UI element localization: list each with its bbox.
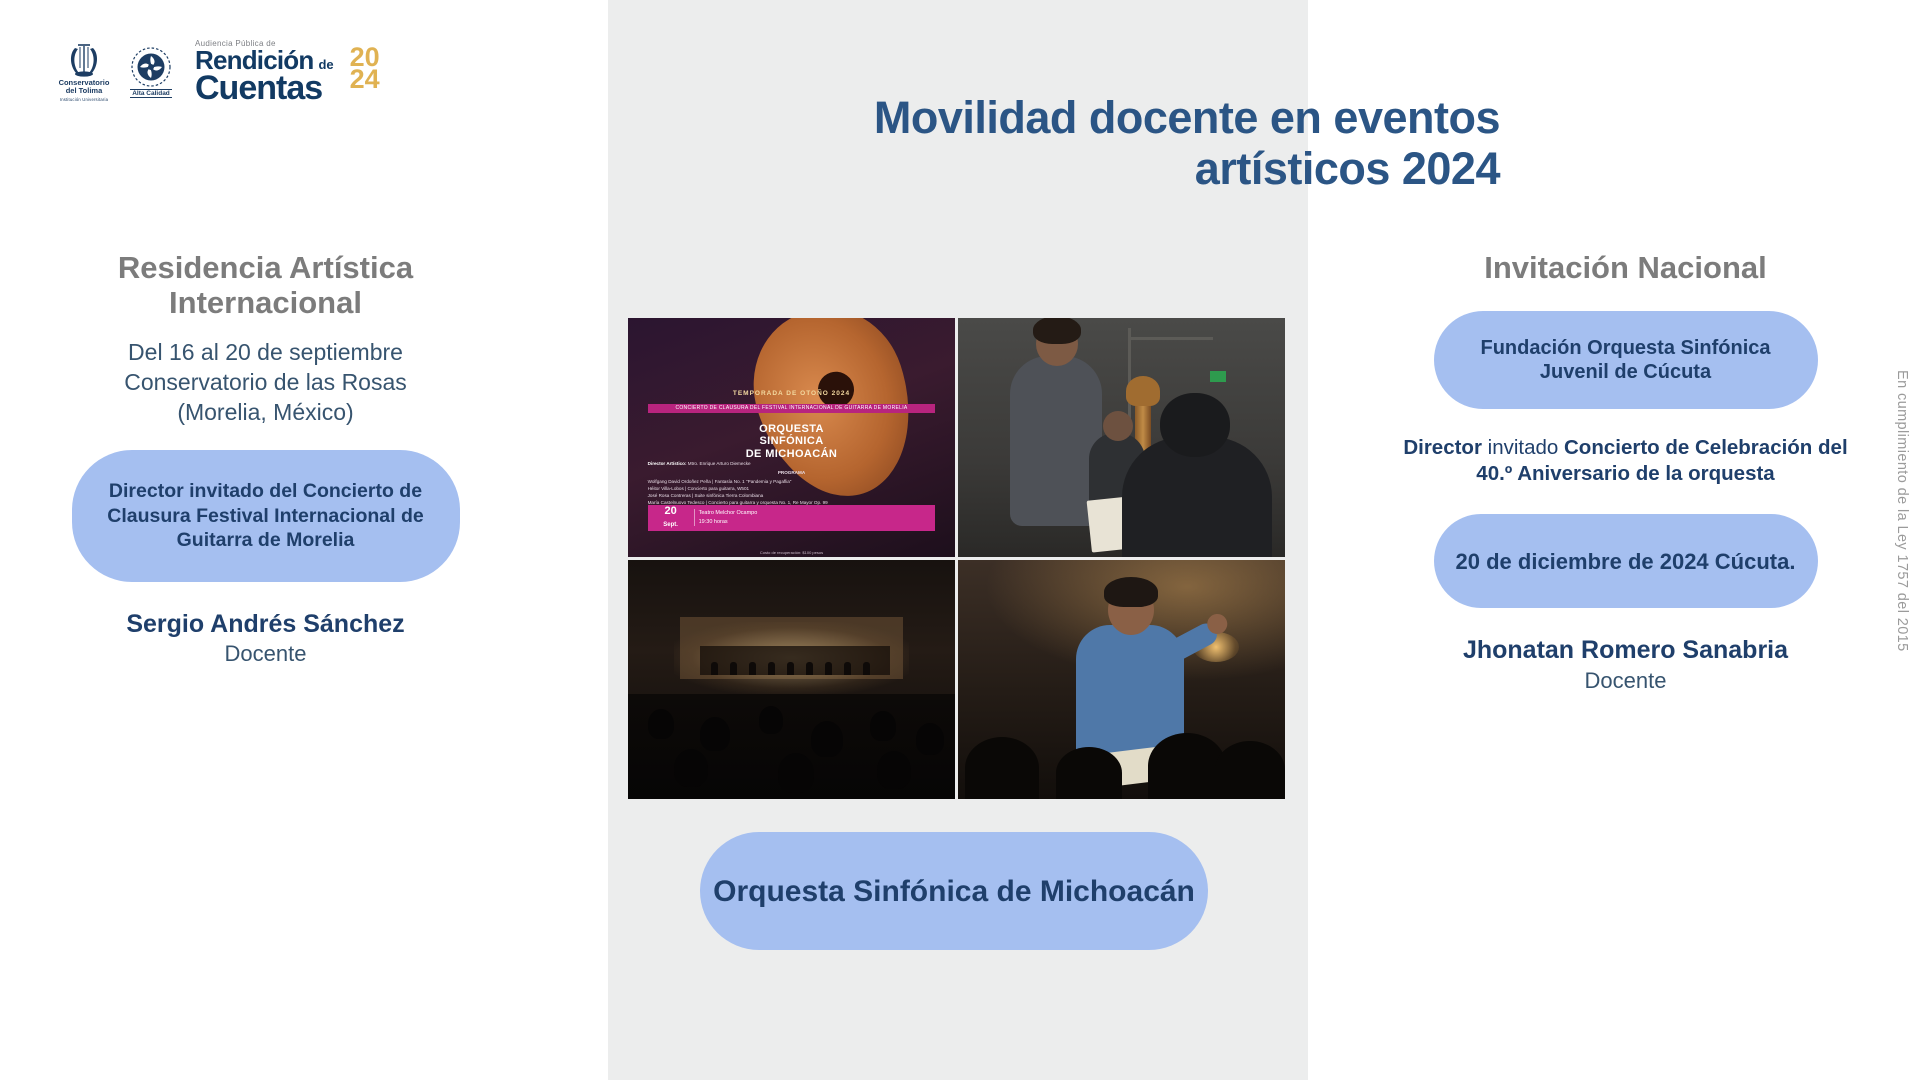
accreditation-seal-icon: [130, 46, 172, 88]
poster-work-2: Héitor Villa-Lobos | Concierto para guit…: [648, 486, 936, 493]
lyre-icon: [67, 42, 101, 78]
poster-date: 20 Sept.: [648, 506, 694, 529]
note-bold-1: Director: [1403, 436, 1482, 459]
rendicion-cuentas-logo: Audiencia Pública de Rendición de Cuenta…: [195, 40, 334, 104]
year-2024-mark: 20 24: [350, 46, 380, 90]
left-role-pill: Director invitado del Concierto de Claus…: [72, 450, 460, 582]
foreground-head-2: [1056, 747, 1122, 799]
poster-subtitle-bar: CONCIERTO DE CLAUSURA DEL FESTIVAL INTER…: [648, 404, 936, 413]
hall-orchestra-row: [700, 646, 890, 675]
poster-venue: Teatro Melchor Ocampo: [699, 510, 758, 516]
photo-grid: TEMPORADA DE OTOÑO 2024 CONCIERTO DE CLA…: [628, 318, 1288, 798]
right-person-name: Jhonatan Romero Sanabria: [1398, 636, 1853, 666]
foreground-head-3: [1148, 733, 1226, 799]
poster-work-3: José Rosa Contreras | Suite sinfónica Ti…: [648, 493, 936, 500]
poster-day: 20: [664, 505, 676, 517]
cuentas-word: Cuentas: [195, 73, 334, 104]
alta-calidad-label: Alta Calidad: [130, 89, 172, 98]
poster-price: Costo de recuperación: $100 pesos: [628, 550, 955, 555]
concert-hall-audience-photo: [628, 560, 955, 799]
left-person-name: Sergio Andrés Sánchez: [38, 610, 493, 640]
poster-director-label: Director Artístico:: [648, 461, 687, 466]
poster-program-label: PROGRAMA: [648, 470, 936, 477]
hall-audience-seats: [628, 694, 955, 799]
poster-time: 19:30 horas: [699, 519, 728, 525]
poster-subtitle: CONCIERTO DE CLAUSURA DEL FESTIVAL INTER…: [648, 404, 936, 413]
stage-pipe-horizontal: [1128, 337, 1213, 340]
poster-orchestra: ORQUESTASINFÓNICADE MICHOACÁN: [628, 423, 955, 460]
foreground-head-1: [965, 737, 1039, 799]
conductor-blue-shirt-photo: [958, 560, 1285, 799]
right-column: Invitación Nacional Fundación Orquesta S…: [1398, 250, 1853, 694]
guitar-festival-poster: TEMPORADA DE OTOÑO 2024 CONCIERTO DE CLA…: [628, 318, 955, 557]
left-column-heading: Residencia Artística Internacional: [38, 250, 493, 321]
center-caption-pill: Orquesta Sinfónica de Michoacán: [700, 832, 1208, 950]
poster-season: TEMPORADA DE OTOÑO 2024: [628, 390, 955, 397]
poster-month: Sept.: [663, 522, 678, 528]
conservatorio-tolima-logo: Conservatorio del Tolima Institución Uni…: [55, 42, 113, 102]
note-thin: invitado: [1482, 436, 1564, 459]
conservatorio-name: Conservatorio del Tolima: [59, 79, 110, 96]
poster-program-block: Director Artístico: Mtro. Enrique Arturo…: [648, 461, 936, 506]
left-column: Residencia Artística Internacional Del 1…: [38, 250, 493, 667]
right-date-pill: 20 de diciembre de 2024 Cúcuta.: [1434, 514, 1818, 608]
conductor-rehearsal-photo: [958, 318, 1285, 557]
year-bottom: 24: [350, 68, 380, 90]
right-column-heading: Invitación Nacional: [1398, 250, 1853, 285]
right-role-note: Director invitado Concierto de Celebraci…: [1398, 435, 1853, 486]
alta-calidad-seal-logo: Alta Calidad: [123, 46, 179, 98]
exit-sign-icon: [1210, 371, 1226, 382]
poster-director-name: Mtro. Enrique Arturo Diemecke: [688, 461, 751, 466]
header-logos: Conservatorio del Tolima Institución Uni…: [55, 40, 334, 104]
poster-venue-time: Teatro Melchor Ocampo 19:30 horas: [694, 509, 936, 526]
legal-note: En cumplimiento de la Ley 1757 del 2015: [1894, 370, 1910, 652]
left-person-role: Docente: [38, 641, 493, 667]
conservatorio-subtitle: Institución Universitaria: [60, 97, 108, 102]
poster-work-1: Wolfgang David Ordoñez Peña | Fantasía N…: [648, 479, 936, 486]
foreground-cellist-back: [1122, 437, 1272, 557]
left-column-details: Del 16 al 20 de septiembre Conservatorio…: [38, 337, 493, 428]
right-person-role: Docente: [1398, 668, 1853, 694]
foreground-head-4: [1215, 741, 1285, 799]
right-organization-pill: Fundación Orquesta Sinfónica Juvenil de …: [1434, 311, 1818, 409]
poster-date-bar: 20 Sept. Teatro Melchor Ocampo 19:30 hor…: [648, 505, 936, 531]
stage-pipe-vertical: [1128, 328, 1131, 424]
page-title: Movilidad docente en eventos artísticos …: [860, 92, 1500, 195]
